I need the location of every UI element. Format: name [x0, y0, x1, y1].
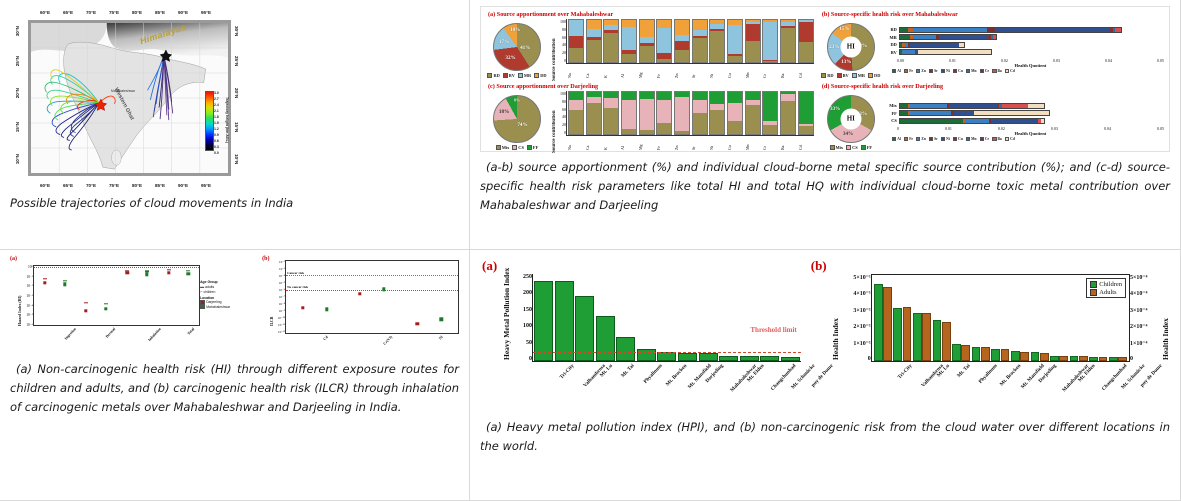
br-b-bar-adults [1099, 357, 1108, 361]
map-colorbar-ticks: 3.0 2.7 2.4 2.1 1.8 1.5 1.2 0.9 0.6 0.3 … [214, 91, 225, 153]
bl-a-point-ingestion-adults [63, 283, 66, 286]
panel-c-title: (c) Source apportionment over Darjeeling [488, 83, 814, 90]
br-a-threshold-label: Threshold limit [750, 326, 796, 334]
metal-legend-zn: Zn [916, 137, 926, 141]
bl-a-point-ingestion-children [43, 278, 47, 279]
hbar-segment-zn [902, 50, 915, 54]
hbar-segment-zn [910, 104, 947, 108]
bl-b-xlabels: CdCr(VI)Ni [285, 334, 459, 356]
stack-xlabel: Ca [585, 136, 601, 150]
legend-item-dd: DD [534, 73, 546, 78]
bl-a-xlabels: IngestionDermalInhalationTotal [33, 326, 200, 356]
stack-xlabel: Ba [780, 64, 796, 78]
bl-panel-b-letter: (b) [262, 256, 269, 262]
panel-c-title-text: Source apportionment over Darjeeling [496, 83, 598, 90]
stack-segment-mr [763, 22, 777, 60]
stack-xlabel: Cr [762, 64, 778, 78]
pie-c-label-1: 18% [499, 109, 509, 115]
hbar-segment-ni [939, 35, 988, 39]
stack-segment-rd [799, 42, 813, 62]
panel-d-legend: Mix CS FF [830, 145, 873, 150]
bl-b-ytick: 10⁻⁶ [274, 288, 285, 292]
bl-panel-a-letter: (a) [10, 256, 17, 262]
stack-xlabel: Ba [780, 136, 796, 150]
br-a-bar [575, 296, 594, 361]
hbar-row: DD [886, 42, 1164, 48]
br-a-bar [616, 337, 635, 361]
map-lat-tick-left-3: 25°N [15, 56, 20, 66]
pie-b-label-1: 13% [841, 59, 851, 65]
map-lat-tick-right-4: 30°N [234, 26, 239, 36]
metal-legend-cr: Cr [980, 69, 990, 73]
stack-segment-ff [799, 92, 813, 124]
bl-b-ytick: 10⁻⁸ [274, 302, 285, 306]
br-a-bar [678, 353, 697, 361]
legend-item-mr: MR [518, 73, 531, 78]
ytick-c-100: 100 [558, 91, 566, 96]
stack-xlabel: Ni [709, 64, 725, 78]
hbar-segment-zn [913, 35, 936, 39]
bl-a-ytick: 10⁻³ [22, 294, 33, 298]
bl-b-ytick: 10⁻⁵ [274, 281, 285, 285]
stack-segment-cs [622, 100, 636, 129]
metal-legend-zn: Zn [916, 69, 926, 73]
hbar-row: Mix [886, 103, 1164, 109]
bl-b-ytick: 10⁻¹¹ [274, 323, 285, 327]
metal-legend-al: Al [892, 69, 901, 73]
metal-legend-ba: Ba [992, 137, 1002, 141]
br-a-bar [699, 353, 718, 361]
br-panel-b-letter: (b) [811, 258, 827, 274]
stack-segment-dd [657, 20, 671, 28]
stack-segment-rd [763, 61, 777, 62]
hbar-d-axis-title: Health Quotient [897, 131, 1164, 136]
stacked-bars-c [568, 91, 814, 135]
map-lon-tick-top-1: 65°E [63, 10, 73, 15]
hbar-row: FF [886, 110, 1164, 116]
map-svg [31, 23, 228, 173]
bl-b-xlabel: Ni [438, 335, 444, 341]
br-b-legend: Children Adults [1086, 278, 1126, 298]
br-b-bar-adults [1040, 353, 1049, 361]
br-a-ylabel: Heavy Metal Pollution Index [502, 274, 511, 360]
ytick-a-80: 80 [558, 27, 566, 32]
map-lon-tick-bot-3: 75°E [109, 183, 119, 188]
stacked-column [674, 19, 690, 63]
stack-segment-rd [604, 33, 618, 62]
hpi-figure: (a) Heavy Metal Pollution Index 25020015… [480, 256, 1170, 416]
br-b-xlabel: Mt. Tai [956, 363, 971, 379]
metal-legend-ni: Ni [941, 69, 950, 73]
stack-xlabel: Mn [745, 136, 761, 150]
hbar-row: MR [886, 34, 1164, 40]
hbar-track [899, 27, 1122, 33]
map-lat-tick-right-3: 25°N [234, 56, 239, 66]
hbar-segment-sr [987, 28, 995, 32]
bl-b-threshold-label-0: Cancer risk [287, 271, 304, 275]
bl-a-point-total-children [186, 270, 190, 271]
panel-c-pie: 74% 18% 8% [493, 95, 541, 143]
cbar-tick-6: 1.2 [214, 127, 219, 131]
br-b-bar-adults [1020, 352, 1029, 361]
caption-bottom-right: (a) Heavy metal pollution index (HPI), a… [480, 418, 1170, 456]
br-b-ytick-left: 2×10⁻¹ [841, 323, 871, 330]
map-lat-tick-right-1: 15°N [234, 122, 239, 132]
panel-c-letter: (c) [488, 83, 495, 90]
map-lon-tick-bot-7: 95°E [201, 183, 211, 188]
panel-b-donut-center: HI [840, 36, 861, 57]
panel-b-donut: 49% 13% 23% 15% HI [827, 23, 875, 71]
stack-segment-mix [693, 113, 707, 134]
stack-xlabel: Fe [656, 136, 672, 150]
hbar-segment-ba [1002, 104, 1028, 108]
br-b-xlabels: Tri-CityValhambrosaMt. LuMt. TaiPhyalinu… [871, 362, 1130, 414]
legend-adults: Adults [1090, 289, 1122, 296]
hbar-track [899, 49, 992, 55]
bl-a-legend: Age Group ▬ adults ⌐ children Location D… [200, 256, 256, 356]
bl-a-point-ingestion-adults [43, 281, 46, 284]
stack-xlabel: Sr [691, 64, 707, 78]
pie-c-label-2: 8% [514, 98, 520, 103]
stacked-column [727, 91, 743, 135]
stacked-column [745, 19, 761, 63]
br-b-ytick-right: 2×10⁻⁴ [1130, 323, 1160, 330]
stacked-column [709, 19, 725, 63]
stack-segment-mr [657, 28, 671, 52]
bl-b-yticks: 10⁻²10⁻³10⁻⁴10⁻⁵10⁻⁶10⁻⁷10⁻⁸10⁻⁹10⁻¹⁰10⁻… [274, 260, 285, 334]
stacked-column [603, 91, 619, 135]
br-b-bar-children [1050, 356, 1059, 361]
caption-top-left: Possible trajectories of cloud movements… [10, 194, 459, 213]
panel-c-ylabel: Source contribution [552, 91, 557, 153]
hbar-segment-zn [913, 28, 987, 32]
panel-a-title: (a) Source apportionment over Mahabalesh… [488, 11, 814, 18]
stack-xlabel: Cd [798, 136, 814, 150]
br-a-ytick: 100 [512, 323, 532, 329]
hbar-segment-ni [949, 104, 996, 108]
bl-b-ytick: 10⁻¹⁰ [274, 316, 285, 320]
hbar-segment-ni [910, 43, 959, 47]
map-lon-tick-top-6: 90°E [178, 10, 188, 15]
metal-legend-ba: Ba [992, 69, 1002, 73]
br-b-ytick-left: 5×10⁻¹ [841, 274, 871, 281]
bl-a-ytick: 10⁻¹ [22, 275, 33, 279]
metal-legend-mn: Mn [966, 69, 977, 73]
br-b-bar-children [893, 308, 902, 361]
stack-segment-mix [622, 129, 636, 134]
br-b-xlabel: Mt. Brocken [999, 363, 1022, 387]
stack-segment-mix [675, 131, 689, 134]
br-b-ytick-right: 1×10⁻⁴ [1130, 340, 1160, 347]
pie-c-label-0: 74% [517, 122, 527, 128]
br-b-bar-group [952, 275, 970, 361]
metal-legend-cr: Cr [980, 137, 990, 141]
stack-xlabel: Cu [727, 136, 743, 150]
hbar-segment-cd [1041, 119, 1044, 123]
map-lat-tick-left-2: 20°N [15, 88, 20, 98]
hbar-track [899, 118, 1045, 124]
stack-segment-cs [728, 103, 742, 121]
panel-a-letter: (a) [488, 11, 495, 18]
stack-segment-cs [569, 100, 583, 111]
panel-d-title-text: Source-specific health risk over Darjeel… [831, 83, 943, 90]
br-b-ytick-right: 3×10⁻⁴ [1130, 307, 1160, 314]
metal-legend-cd: Cd [1005, 137, 1015, 141]
cbar-tick-10: 0.0 [214, 151, 219, 155]
hbar-category-label: CS [886, 118, 899, 123]
stack-segment-mr [569, 20, 583, 36]
bl-a-ytick: 10⁻⁵ [22, 313, 33, 317]
source-apportionment-figure: (a) Source apportionment over Mahabalesh… [480, 6, 1170, 152]
stack-segment-dd [640, 20, 654, 37]
br-panel-a-letter: (a) [482, 258, 497, 274]
bl-a-point-total-adults [187, 272, 190, 275]
bl-a-ylabel: Hazard Index (HI) [18, 268, 22, 326]
br-b-bar-group [1070, 275, 1088, 361]
br-b-xlabel: Tri-City [896, 363, 913, 380]
bl-a-point-dermal-adults [84, 309, 87, 312]
stack-xlabel: Fe [656, 64, 672, 78]
pie-d-label-2: 33% [830, 106, 840, 112]
map-lon-tick-top-3: 75°E [109, 10, 119, 15]
stack-segment-mix [587, 103, 601, 135]
br-b-bar-group [913, 275, 931, 361]
pie-b-label-2: 23% [829, 44, 839, 50]
bl-b-point-cr(vi) [382, 288, 385, 291]
bl-a-point-dermal-children [84, 302, 88, 303]
stack-segment-ff [622, 92, 636, 100]
stack-segment-cs [781, 94, 795, 102]
map-lat-tick-left-0: 10°N [15, 154, 20, 164]
stacked-column [568, 19, 584, 63]
stack-segment-ff [763, 92, 777, 121]
metal-legend-ni: Ni [941, 137, 950, 141]
stack-segment-mix [728, 121, 742, 134]
bl-a-point-ingestion-children [63, 280, 67, 281]
stack-segment-mix [799, 126, 813, 134]
metal-legend-al: Al [892, 137, 901, 141]
stacked-column [709, 91, 725, 135]
ytick-c-40: 40 [558, 114, 566, 119]
bl-b-ylabel: ILCR [270, 268, 274, 326]
bl-b-point-cr(vi) [358, 292, 361, 295]
stack-xlabel: K [603, 136, 619, 150]
br-b-bar-children [991, 349, 1000, 362]
map-lat-tick-left-4: 30°N [15, 26, 20, 36]
hbar-row: RD [886, 27, 1164, 33]
panel-d-hbar-chart: MixFFCS 00.010.020.030.040.05 Health Quo… [886, 91, 1164, 153]
map-lon-tick-bot-6: 90°E [178, 183, 188, 188]
panel-d-donut-center: HI [840, 108, 861, 129]
br-b-ytick-left: 1×10⁻¹ [841, 340, 871, 347]
stack-segment-dd [587, 20, 601, 29]
bl-a-plot-area [33, 265, 200, 326]
stacked-column [621, 19, 637, 63]
br-a-bar [740, 356, 759, 361]
bl-a-ytick: 10⁻⁶ [22, 323, 33, 327]
hbar-segment-zn [965, 119, 989, 123]
map-lat-tick-right-2: 20°N [234, 88, 239, 98]
stacked-column [745, 91, 761, 135]
br-a-threshold-line [533, 352, 801, 353]
bl-a-xlabel: Ingestion [64, 327, 77, 341]
br-b-bar-adults [903, 307, 912, 361]
br-a-bar [637, 349, 656, 361]
br-a-xlabel: Tri-City [558, 363, 575, 380]
br-a-xlabels: Tri-CityValhambrosaMt. LuMt. TaiPhyalinu… [532, 362, 801, 414]
legend-age-children: ⌐ children [200, 289, 256, 294]
br-b-ylabel: Health Index [831, 274, 840, 360]
cbar-tick-8: 0.6 [214, 139, 219, 143]
xlabels-c: NaCaKAlMgFeZnSrNiCuMnCrBaCd [566, 136, 814, 150]
hbar-segment-ni [954, 111, 975, 115]
stack-segment-rd [587, 40, 601, 62]
stacked-column [656, 19, 672, 63]
stack-segment-mix [569, 110, 583, 134]
stack-segment-dd [675, 20, 689, 35]
stack-segment-rd [746, 41, 760, 62]
hbar-category-label: DD [886, 42, 899, 47]
pie-a-label-0: 41% [520, 45, 530, 51]
map-lat-tick-left-1: 15°N [15, 122, 20, 132]
map-lon-tick-bot-0: 60°E [40, 183, 50, 188]
stack-xlabel: Al [620, 64, 636, 78]
stack-segment-ff [728, 92, 742, 103]
map-lon-tick-bot-2: 70°E [86, 183, 96, 188]
stack-segment-ff [693, 92, 707, 100]
map-lon-tick-bot-5: 85°E [155, 183, 165, 188]
br-a-bars [534, 274, 800, 361]
stack-segment-rd [569, 48, 583, 62]
bl-b-ytick: 10⁻⁷ [274, 295, 285, 299]
br-a-plot-area: Threshold limit [532, 274, 801, 362]
metal-legend-fe: Fe [904, 69, 913, 73]
br-a-bar [555, 281, 574, 361]
stack-segment-mix [640, 130, 654, 134]
map-lon-tick-top-0: 60°E [40, 10, 50, 15]
bl-a-point-total-children [167, 269, 171, 270]
bl-a-xlabel: Dermal [105, 327, 116, 339]
panel-d-metal-legend: AlFeZnSrNiCuMnCrBaCd [892, 137, 1164, 141]
br-a-bar [760, 356, 779, 361]
br-b-bar-group [1031, 275, 1049, 361]
br-b-bar-children [1011, 351, 1020, 361]
stack-segment-rd [640, 46, 654, 62]
stacked-column [621, 91, 637, 135]
hbar-segment-al [900, 28, 908, 32]
br-b-bar-adults [1001, 349, 1010, 361]
panel-b-title: (b) Source-specific health risk over Mah… [822, 11, 1164, 18]
legend-item-rd: RD [487, 73, 499, 78]
map-colorbar [205, 91, 214, 151]
stack-xlabel: Sr [691, 136, 707, 150]
metal-legend-mn: Mn [966, 137, 977, 141]
br-b-bar-children [1070, 356, 1079, 361]
bl-a-threshold-line [34, 267, 199, 268]
caption-top-right: (a-b) source apportionment (%) and indiv… [480, 158, 1170, 215]
stacked-column [762, 91, 778, 135]
map-lat-tick-right-0: 10°N [234, 154, 239, 164]
legend-item-bv: BV [503, 73, 515, 78]
bl-b-xlabel: Cd [323, 335, 329, 341]
br-a-xlabel: Phyalinum [643, 363, 664, 385]
stacked-bars-a [568, 19, 814, 63]
cbar-tick-3: 2.1 [214, 109, 219, 113]
bl-b-threshold-0 [286, 275, 458, 276]
hbar-segment-ni [995, 28, 1111, 32]
ytick-a-40: 40 [558, 42, 566, 47]
panel-b: (b) Source-specific health risk over Mah… [820, 11, 1164, 81]
stack-segment-mr [622, 27, 636, 50]
stack-segment-dd [622, 20, 636, 27]
cell-bottom-right: (a) Heavy Metal Pollution Index 25020015… [470, 250, 1181, 501]
hbar-row: BV [886, 49, 1164, 55]
br-b-ytick-left: 3×10⁻¹ [841, 307, 871, 314]
br-b-bar-adults [1118, 357, 1127, 361]
pie-d-label-1: 34% [843, 131, 853, 137]
bl-b-point-cd [301, 306, 304, 309]
stacked-column [762, 19, 778, 63]
bl-b-threshold-1 [286, 290, 458, 291]
bl-a-point-inhalation-adults [126, 271, 129, 274]
legend-loc-mahabaleshwar: Mahabaleshwar [200, 305, 256, 310]
br-b-bar-adults [942, 322, 951, 361]
hbar-segment-al [900, 111, 908, 115]
stack-segment-rd [675, 50, 689, 62]
bl-b-plot-area: Cancer riskNo cancer risk [285, 260, 459, 334]
stack-segment-rd [693, 38, 707, 62]
bl-panel-a: (a) Hazard Index (HI) 10⁰10⁻¹10⁻²10⁻³10⁻… [10, 256, 256, 356]
stack-segment-ff [569, 92, 583, 100]
stack-xlabel: Zn [674, 64, 690, 78]
stacked-column [639, 91, 655, 135]
ytick-a-100: 100 [558, 19, 566, 24]
map-lon-tick-top-2: 70°E [86, 10, 96, 15]
stack-segment-mix [763, 125, 777, 134]
stacked-column [586, 91, 602, 135]
panel-b-title-text: Source-specific health risk over Mahabal… [831, 11, 958, 18]
stack-xlabel: Mg [638, 64, 654, 78]
hbar-segment-al [900, 104, 908, 108]
br-b-yticks-left: 5×10⁻¹4×10⁻¹3×10⁻¹2×10⁻¹1×10⁻¹0 [841, 274, 871, 362]
br-b-bar-children [1089, 357, 1098, 361]
map-lon-tick-top-4: 80°E [132, 10, 142, 15]
bl-b-ytick: 10⁻¹² [274, 330, 285, 334]
hbar-track [899, 110, 1050, 116]
br-a-ytick: 50 [512, 340, 532, 346]
bl-b-ytick: 10⁻⁴ [274, 274, 285, 278]
stacked-column [780, 19, 796, 63]
stacked-column [727, 19, 743, 63]
stacked-column [692, 19, 708, 63]
hbar-segment-ba [993, 35, 996, 39]
cbar-tick-4: 1.8 [214, 115, 219, 119]
stack-xlabel: Al [620, 136, 636, 150]
br-b-bar-children [972, 347, 981, 361]
br-b-bar-group [874, 275, 892, 361]
figure-sheet: 60°E 65°E 70°E 75°E 80°E 85°E 90°E 95°E … [0, 0, 1181, 501]
br-panel-a: (a) Heavy Metal Pollution Index 25020015… [480, 258, 801, 416]
map-label-mahabaleshwar: Mahabaleshwar [111, 89, 135, 93]
stacked-column [603, 19, 619, 63]
trajectory-map-figure: 60°E 65°E 70°E 75°E 80°E 85°E 90°E 95°E … [14, 8, 239, 190]
br-b-bar-children [1109, 357, 1118, 361]
br-a-bar [596, 316, 615, 361]
hbar-segment-zn [910, 111, 951, 115]
br-b-plot-area: Children Adults [871, 274, 1130, 362]
stack-segment-bv [569, 36, 583, 48]
panel-c-legend: Mix CS FF [496, 145, 539, 150]
